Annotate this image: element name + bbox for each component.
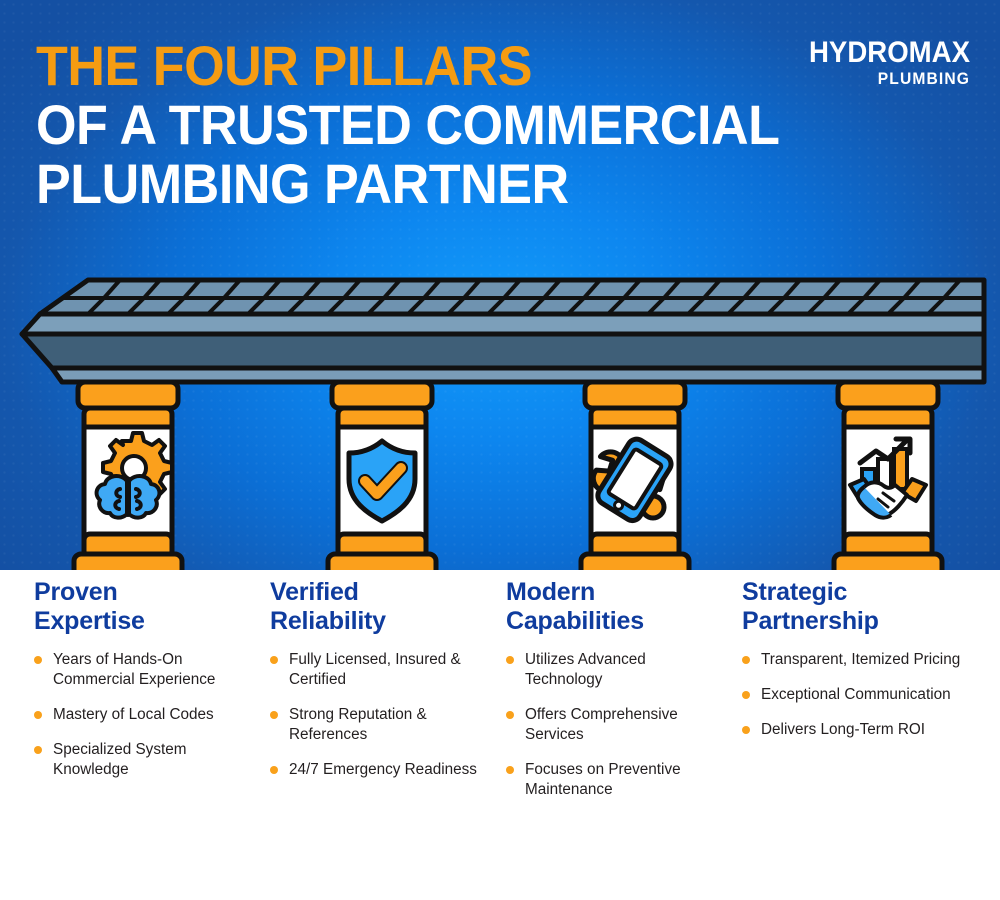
pillar-column-2: Verified Reliability Fully Licensed, Ins… — [270, 578, 506, 900]
pillar-heading-3: Modern Capabilities — [506, 578, 726, 636]
pillar-column-1: Proven Expertise Years of Hands-On Comme… — [34, 578, 270, 900]
logo-wordmark: HYDROMAX — [809, 38, 970, 68]
pillar-heading-4: Strategic Partnership — [742, 578, 962, 636]
pillar-heading-1: Proven Expertise — [34, 578, 254, 636]
title-line-2: OF A TRUSTED COMMERCIAL — [36, 95, 687, 154]
pillar-heading-3-line1: Modern — [506, 578, 595, 606]
list-item: Strong Reputation & References — [270, 705, 490, 745]
pillar-column-4: Strategic Partnership Transparent, Itemi… — [742, 578, 978, 900]
list-item: Fully Licensed, Insured & Certified — [270, 650, 490, 690]
pillar-heading-2-line2: Reliability — [270, 607, 490, 636]
list-item: Exceptional Communication — [742, 685, 962, 705]
pillar-heading-2: Verified Reliability — [270, 578, 490, 636]
pillar-group-2 — [294, 382, 470, 570]
list-item: Offers Comprehensive Services — [506, 705, 726, 745]
list-item: 24/7 Emergency Readiness — [270, 760, 490, 780]
pillar-group-4 — [800, 382, 976, 570]
pillar-bullets-1: Years of Hands-On Commercial Experience … — [34, 650, 254, 780]
list-item: Transparent, Itemized Pricing — [742, 650, 962, 670]
list-item: Mastery of Local Codes — [34, 705, 254, 725]
list-item: Focuses on Preventive Maintenance — [506, 760, 726, 800]
pillar-bullets-3: Utilizes Advanced Technology Offers Comp… — [506, 650, 726, 800]
title-line-3: PLUMBING PARTNER — [36, 154, 687, 213]
pillar-group-3 — [547, 382, 723, 570]
page-title: THE FOUR PILLARS OF A TRUSTED COMMERCIAL… — [36, 36, 736, 213]
list-item: Utilizes Advanced Technology — [506, 650, 726, 690]
pillar-heading-1-line1: Proven — [34, 578, 118, 606]
brand-logo: HYDROMAX PLUMBING — [795, 38, 970, 88]
pillar-heading-1-line2: Expertise — [34, 607, 254, 636]
pillar-bullets-4: Transparent, Itemized Pricing Exceptiona… — [742, 650, 962, 740]
pillar-heading-4-line2: Partnership — [742, 607, 962, 636]
roof-tiles — [40, 280, 984, 314]
logo-tagline: PLUMBING — [809, 69, 970, 88]
list-item: Specialized System Knowledge — [34, 740, 254, 780]
pillar-heading-2-line1: Verified — [270, 578, 359, 606]
temple-illustration — [0, 272, 1000, 570]
pillar-bullets-2: Fully Licensed, Insured & Certified Stro… — [270, 650, 490, 780]
list-item: Delivers Long-Term ROI — [742, 720, 962, 740]
list-item: Years of Hands-On Commercial Experience — [34, 650, 254, 690]
infographic-canvas: THE FOUR PILLARS OF A TRUSTED COMMERCIAL… — [0, 0, 1000, 900]
title-line-1: THE FOUR PILLARS — [36, 36, 687, 95]
pillar-details-row: Proven Expertise Years of Hands-On Comme… — [0, 578, 1000, 900]
pillar-heading-3-line2: Capabilities — [506, 607, 726, 636]
pillar-heading-4-line1: Strategic — [742, 578, 847, 606]
pillar-group-1 — [40, 382, 216, 570]
pillar-column-3: Modern Capabilities Utilizes Advanced Te… — [506, 578, 742, 900]
roof-entablature — [22, 314, 984, 382]
